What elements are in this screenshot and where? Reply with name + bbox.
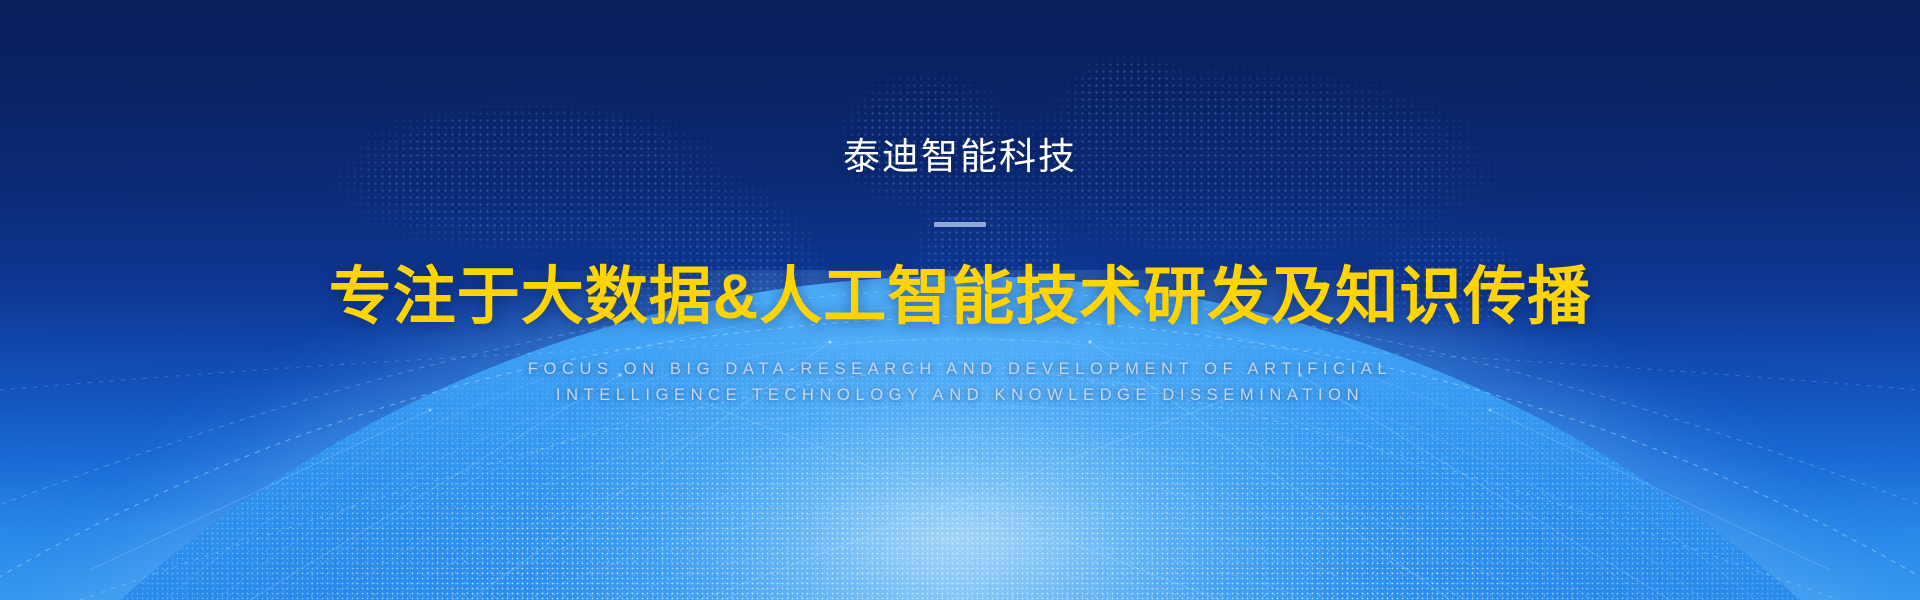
- brand-name: 泰迪智能科技: [843, 138, 1077, 175]
- banner-subtitle: FOCUS ON BIG DATA-RESEARCH AND DEVELOPME…: [528, 356, 1392, 408]
- hero-banner: 泰迪智能科技 专注于大数据&人工智能技术研发及知识传播 FOCUS ON BIG…: [0, 0, 1920, 600]
- title-divider: [934, 222, 986, 227]
- page-title: 专注于大数据&人工智能技术研发及知识传播: [329, 264, 1592, 330]
- subtitle-line-1: FOCUS ON BIG DATA-RESEARCH AND DEVELOPME…: [528, 356, 1392, 382]
- banner-content: 泰迪智能科技 专注于大数据&人工智能技术研发及知识传播 FOCUS ON BIG…: [0, 0, 1920, 600]
- subtitle-line-2: INTELLIGENCE TECHNOLOGY AND KNOWLEDGE DI…: [528, 382, 1392, 408]
